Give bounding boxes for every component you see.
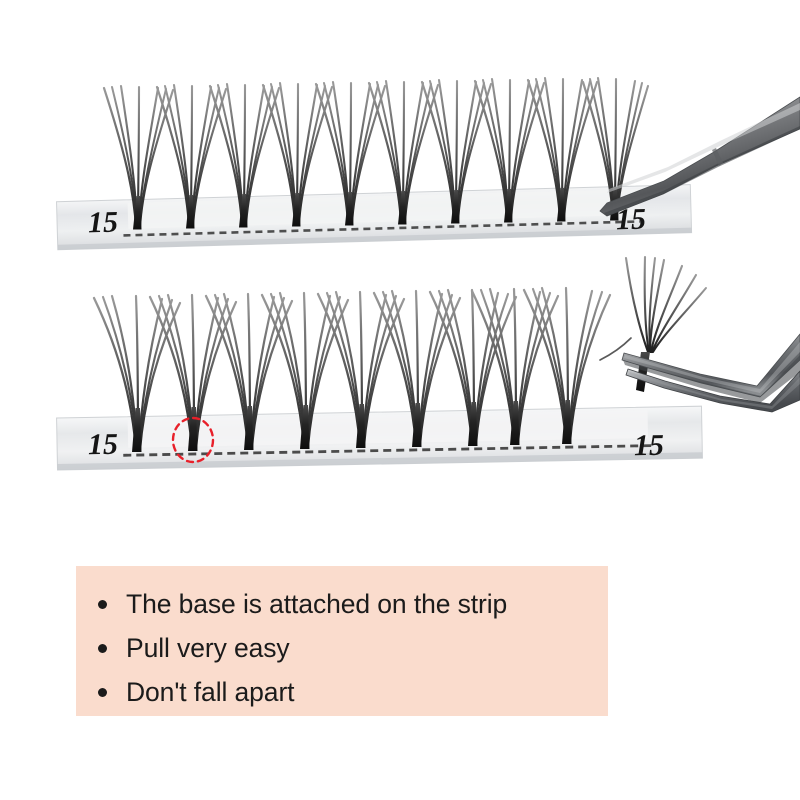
strip-2-backing (57, 406, 703, 470)
strip-1-backing (57, 185, 692, 250)
strip-1-label-left: 15 (88, 208, 119, 239)
bullet-dot-icon (98, 644, 107, 653)
bullet-dot-icon (98, 600, 107, 609)
strip-2-label-left: 15 (88, 430, 119, 461)
feature-bullet-item: The base is attached on the strip (76, 582, 608, 626)
strip-1-label-right: 15 (616, 205, 647, 236)
feature-bullet-item: Pull very easy (76, 626, 608, 670)
bullet-dot-icon (98, 688, 107, 697)
tweezers-bottom (600, 257, 800, 412)
feature-bullet-text: Pull very easy (126, 635, 290, 662)
feature-bullet-text: The base is attached on the strip (126, 591, 507, 618)
lash-strip-2 (57, 257, 800, 470)
lash-strip-1 (57, 78, 800, 250)
feature-bullet-text: Don't fall apart (126, 679, 294, 706)
product-feature-image: 15 15 15 15 The base is attached on the … (0, 0, 800, 800)
feature-bullet-panel: The base is attached on the strip Pull v… (76, 566, 608, 716)
held-lash-fan (600, 257, 706, 360)
strip-2-label-right: 15 (634, 431, 665, 462)
feature-bullet-item: Don't fall apart (76, 670, 608, 714)
